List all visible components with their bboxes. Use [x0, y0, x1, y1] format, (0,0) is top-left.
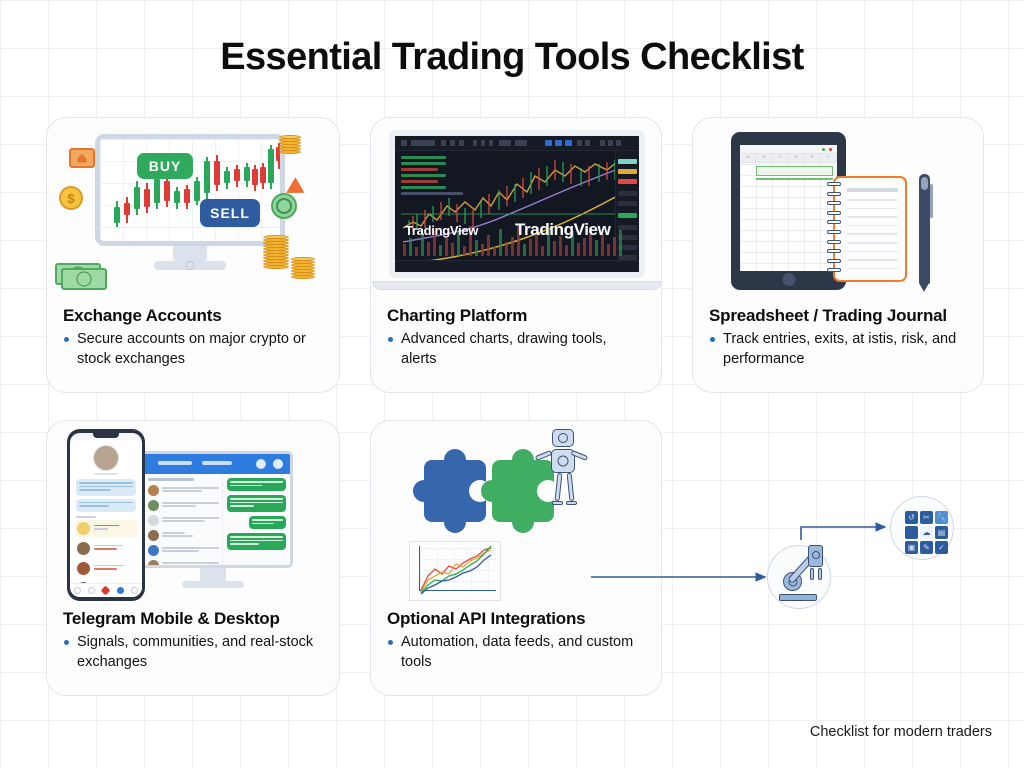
coin-stack-icon [291, 258, 315, 279]
illustration-laptop-trading-chart: TradingView TradingView [371, 118, 661, 306]
chart-series-svg [410, 542, 502, 602]
desktop-monitor-chat [133, 451, 293, 588]
message-bubble [227, 495, 286, 512]
cloud-icon[interactable]: ☁ [920, 526, 933, 539]
illustration-tablet-notebook-pen: A B C D E F [693, 118, 983, 306]
refresh-icon[interactable] [88, 587, 95, 594]
footer-note: Checklist for modern traders [810, 724, 992, 740]
card-description: Signals, communities, and real-stock exc… [63, 633, 323, 672]
card-title: Telegram Mobile & Desktop [63, 609, 323, 629]
list-item[interactable] [75, 560, 137, 577]
cut-icon[interactable]: ✂ [920, 511, 933, 524]
pen-clip-icon [930, 184, 933, 218]
section-label [76, 516, 96, 518]
tool-grid-node[interactable] [890, 496, 954, 560]
phone-notch [93, 433, 119, 438]
chat-list[interactable] [145, 474, 223, 565]
avatar [93, 445, 119, 471]
notebook-lines [847, 188, 898, 276]
buy-button[interactable]: BUY [137, 153, 193, 179]
card-text-block: Exchange Accounts Secure accounts on maj… [47, 306, 339, 369]
dollar-bill-icon [61, 268, 107, 290]
card-spreadsheet-trading-journal[interactable]: A B C D E F S [692, 117, 984, 393]
spreadsheet-titlebar [740, 145, 837, 154]
card-text-block: Charting Platform Advanced charts, drawi… [371, 306, 661, 369]
app-header-bar [136, 454, 290, 474]
card-text-block: Optional API Integrations Automation, da… [371, 609, 661, 672]
notebook-spiral-rings [827, 182, 841, 278]
lock-icon[interactable]: ▣ [905, 541, 918, 554]
contact-name [94, 473, 118, 475]
card-title: Optional API Integrations [387, 609, 645, 629]
card-text-block: Spreadsheet / Trading Journal Track entr… [693, 306, 983, 369]
monitor-power-dot-icon [186, 261, 195, 270]
column-header: E [805, 154, 821, 162]
list-item[interactable] [148, 560, 219, 569]
home-button-icon[interactable] [782, 273, 795, 286]
line-chart-thumbnail [409, 541, 501, 601]
send-icon[interactable] [117, 587, 124, 594]
spreadsheet-cells[interactable] [740, 164, 837, 271]
tradingview-watermark-large: TradingView [515, 220, 610, 240]
dollar-coin-icon: $ [59, 186, 83, 210]
monitor-screen: BUY SELL [95, 134, 285, 246]
monitor-base [182, 581, 244, 588]
save-icon[interactable]: ▤ [935, 526, 948, 539]
highlighted-row [756, 166, 833, 176]
phone-statusbar [70, 433, 142, 440]
phone-tabbar[interactable] [70, 583, 142, 597]
robot-arm-node[interactable] [767, 545, 831, 609]
message-bubble [76, 499, 136, 512]
mobile-phone [67, 429, 145, 601]
page-title: Essential Trading Tools Checklist [0, 36, 1024, 79]
price-chart-svg [395, 136, 645, 278]
rocket-badge-icon [69, 148, 95, 168]
card-title: Spreadsheet / Trading Journal [709, 306, 967, 326]
card-text-block: Telegram Mobile & Desktop Signals, commu… [47, 609, 339, 672]
laptop-base [372, 281, 661, 290]
tab-icon[interactable] [74, 587, 81, 594]
monitor-neck [173, 246, 207, 261]
square-icon[interactable] [905, 526, 918, 539]
list-item[interactable] [148, 530, 219, 541]
card-description: Advanced charts, drawing tools, alerts [387, 330, 645, 369]
robot-arm-link [787, 551, 818, 584]
desktop-screen [133, 451, 293, 568]
message-bubble [76, 479, 136, 496]
time-axis [395, 260, 639, 272]
tablet-screen: A B C D E F [740, 145, 837, 271]
monitor-neck [200, 568, 226, 581]
tradingview-watermark-small: TradingView [405, 223, 478, 238]
brush-icon[interactable]: ✎ [920, 541, 933, 554]
message-bubble [227, 478, 286, 491]
robot-arm-claw [818, 568, 822, 580]
spreadsheet-column-headers: A B C D E F [740, 154, 837, 163]
list-item[interactable] [75, 520, 137, 537]
robot-arm-head [808, 545, 823, 567]
illustration-monitor-candlestick-chart: $ [47, 118, 339, 306]
heart-icon[interactable] [101, 586, 111, 596]
column-header: D [789, 154, 805, 162]
coin-stack-icon [263, 236, 289, 269]
list-item[interactable] [148, 515, 219, 526]
card-telegram-mobile-desktop[interactable]: Telegram Mobile & Desktop Signals, commu… [46, 420, 340, 696]
tool-icon-grid[interactable]: ↺ ✂ 🔧 ☁ ▤ ▣ ✎ ✓ [905, 511, 948, 554]
card-title: Charting Platform [387, 306, 645, 326]
spiral-notebook [833, 176, 907, 282]
profile-icon[interactable] [131, 587, 138, 594]
card-title: Exchange Accounts [63, 306, 323, 326]
undo-icon[interactable]: ↺ [905, 511, 918, 524]
chat-list-header [148, 478, 194, 481]
webcam-icon [517, 132, 519, 134]
column-header: B [756, 154, 772, 162]
column-header: A [740, 154, 756, 162]
illustration-phone-desktop-chat [47, 421, 339, 609]
robot-arm-base [779, 594, 817, 601]
illustration-puzzle-robot [371, 421, 661, 609]
card-description: Secure accounts on major crypto or stock… [63, 330, 323, 369]
card-optional-api-integrations[interactable]: Optional API Integrations Automation, da… [370, 420, 662, 696]
robot-icon [543, 429, 585, 511]
column-header: F [821, 154, 837, 162]
app-body [136, 474, 290, 565]
phone-screen [70, 433, 142, 597]
card-charting-platform[interactable]: TradingView TradingView Charting Platfor… [370, 117, 662, 393]
laptop-device: TradingView TradingView [389, 130, 645, 290]
wrench-icon[interactable]: 🔧 [935, 511, 948, 524]
card-description: Track entries, exits, at istis, risk, an… [709, 330, 967, 369]
message-bubble [227, 533, 286, 550]
coin-stack-icon [279, 136, 301, 154]
chat-messages [223, 474, 290, 565]
sell-button[interactable]: SELL [200, 199, 260, 227]
message-bubble [249, 516, 286, 529]
card-description: Automation, data feeds, and custom tools [387, 633, 645, 672]
pen-icon [919, 174, 930, 284]
list-item[interactable] [75, 540, 137, 557]
card-exchange-accounts[interactable]: $ [46, 117, 340, 393]
desktop-monitor: BUY SELL [95, 134, 285, 270]
robot-arm-pivot [783, 572, 802, 591]
check-icon[interactable]: ✓ [935, 541, 948, 554]
list-item[interactable] [148, 545, 219, 556]
robot-arm-claw [810, 568, 814, 580]
list-item[interactable] [148, 500, 219, 511]
column-header: C [772, 154, 788, 162]
highlighted-row-underline [756, 178, 833, 180]
laptop-screen: TradingView TradingView [389, 130, 645, 278]
list-item[interactable] [148, 485, 219, 496]
